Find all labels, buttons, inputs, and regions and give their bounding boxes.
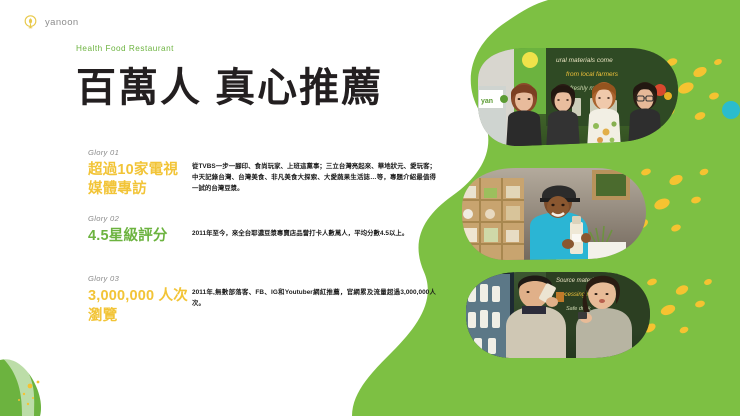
glory-3-title: 3,000,000 人次瀏覽 (88, 287, 192, 326)
glory-1-title: 超過10家電視媒體專訪 (88, 161, 192, 200)
eyebrow-label: Health Food Restaurant (76, 44, 446, 53)
brand-logo-text: yanoon (45, 17, 79, 28)
glory-2-heading: Glory 02 4.5星級評分 (88, 214, 192, 246)
glory-list: Glory 01 超過10家電視媒體專訪 從TVBS一步一腳印、食尚玩家、上班這… (88, 148, 436, 344)
svg-text:ural materials come: ural materials come (556, 57, 613, 64)
headline-block: Health Food Restaurant 百萬人 真心推薦 (76, 44, 446, 110)
brand-logo[interactable]: yanoon (22, 14, 79, 31)
svg-text:from local farmers: from local farmers (566, 71, 619, 78)
glory-3-heading: Glory 03 3,000,000 人次瀏覽 (88, 274, 192, 326)
page-title: 百萬人 真心推薦 (76, 67, 446, 110)
glory-2-title: 4.5星級評分 (88, 227, 192, 246)
glory-2-tag: Glory 02 (88, 214, 192, 223)
glory-2-body: 2011年至今，來全台耶濃豆漿專賣店品嘗打卡人數萬人，平均分數4.5以上。 (192, 214, 436, 239)
glory-3-tag: Glory 03 (88, 274, 192, 283)
svg-text:yan: yan (481, 98, 493, 105)
cyan-dot (722, 101, 740, 119)
leaf-bulb-icon (22, 14, 39, 31)
glory-item-1: Glory 01 超過10家電視媒體專訪 從TVBS一步一腳印、食尚玩家、上班這… (88, 148, 436, 200)
slide-root: yan ural materials come from local farme… (0, 0, 740, 416)
glory-1-body: 從TVBS一步一腳印、食尚玩家、上班這黨事；三立台灣亮起來、華地狀元、愛玩客；中… (192, 148, 436, 195)
glory-1-tag: Glory 01 (88, 148, 192, 157)
glory-item-2: Glory 02 4.5星級評分 2011年至今，來全台耶濃豆漿專賣店品嘗打卡人… (88, 214, 436, 246)
glory-3-body: 2011年,無數部落客、FB、IG和Youtuber網紅推薦，官網累及流量超過3… (192, 274, 436, 309)
glory-1-heading: Glory 01 超過10家電視媒體專訪 (88, 148, 192, 200)
glory-item-3: Glory 03 3,000,000 人次瀏覽 2011年,無數部落客、FB、I… (88, 274, 436, 326)
